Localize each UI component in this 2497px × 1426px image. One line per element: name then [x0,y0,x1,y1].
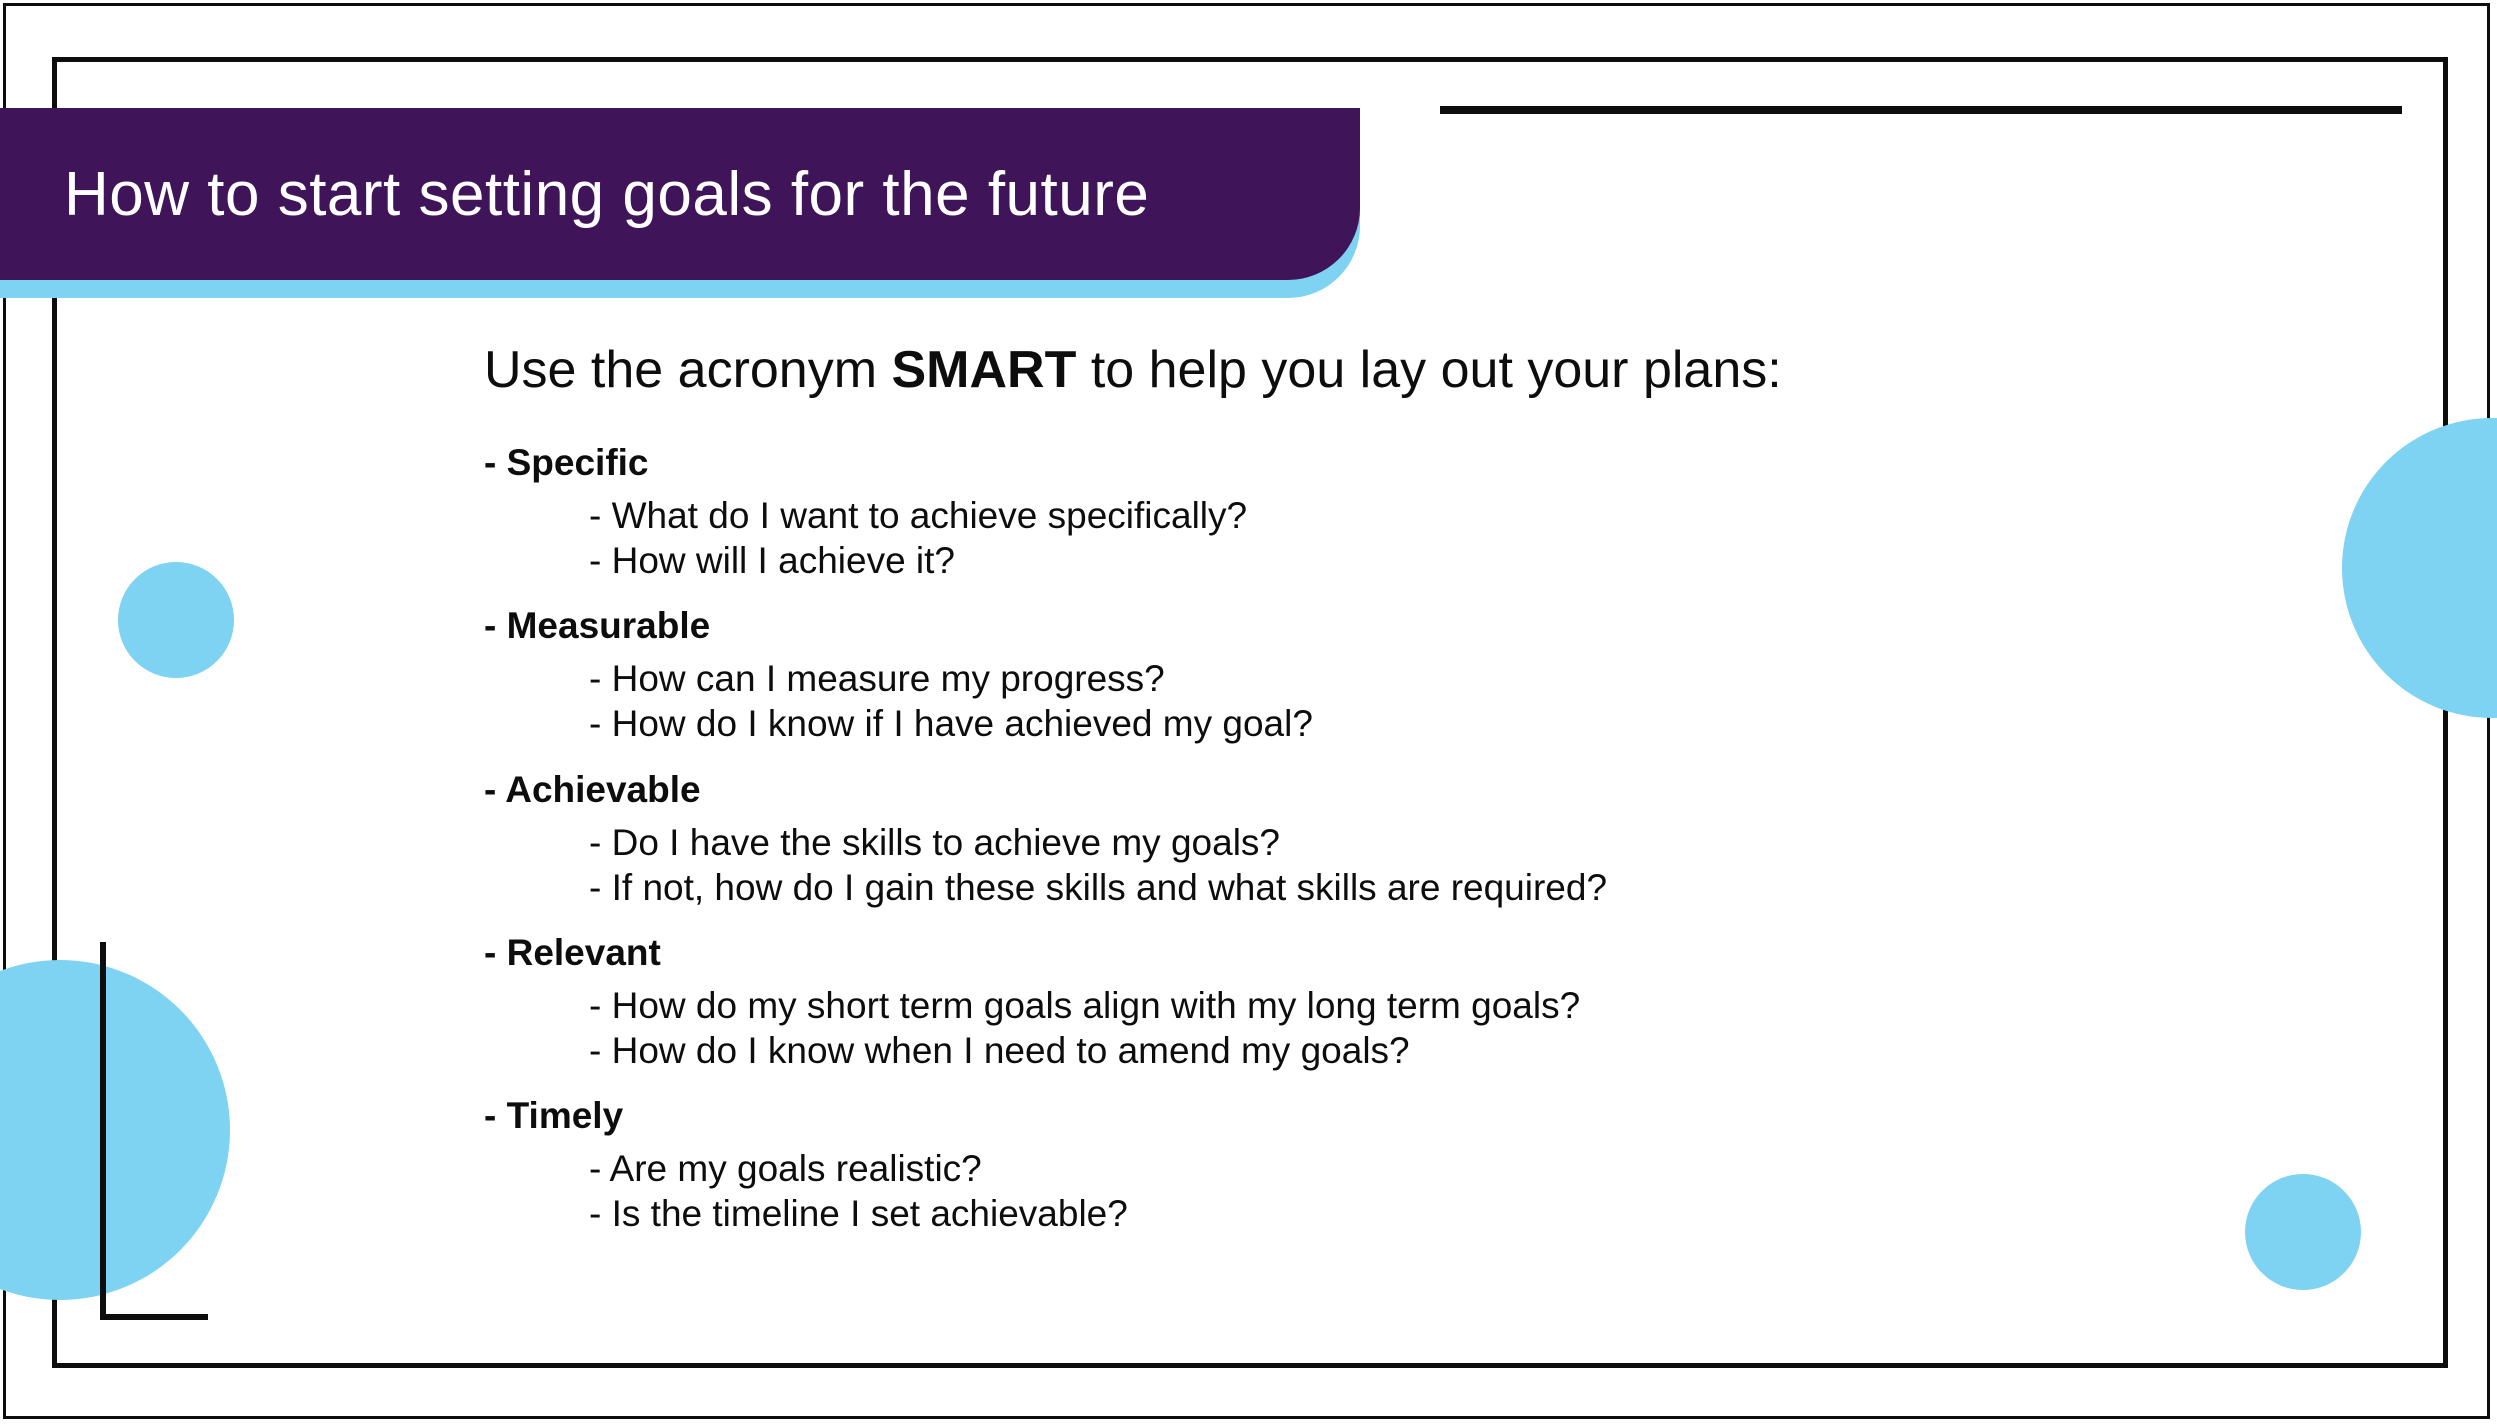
smart-question: - Do I have the skills to achieve my goa… [589,820,2364,865]
slide-canvas: How to start setting goals for the futur… [0,0,2497,1426]
decorative-corner-bracket [100,942,208,1320]
intro-text-after: to help you lay out your plans: [1076,341,1781,399]
intro-text-before: Use the acronym [484,341,892,399]
smart-term-label: - Relevant [484,932,2364,974]
smart-group-relevant: - Relevant - How do my short term goals … [484,932,2364,1073]
smart-term-label: - Achievable [484,769,2364,811]
intro-line: Use the acronym SMART to help you lay ou… [484,340,2364,400]
intro-acronym: SMART [892,341,1077,399]
smart-question: - What do I want to achieve specifically… [589,493,2364,538]
decorative-circle-left-small [118,562,234,678]
decorative-circle-right-large [2342,418,2497,718]
smart-question: - How will I achieve it? [589,538,2364,583]
smart-question: - How do my short term goals align with … [589,983,2364,1028]
smart-question: - Are my goals realistic? [589,1146,2364,1191]
smart-term-label: - Specific [484,442,2364,484]
smart-group-timely: - Timely - Are my goals realistic? - Is … [484,1095,2364,1236]
slide-body: Use the acronym SMART to help you lay ou… [484,340,2364,1258]
smart-term-label: - Measurable [484,605,2364,647]
decorative-top-rule [1440,106,2402,114]
title-banner-bar: How to start setting goals for the futur… [0,108,1360,280]
smart-question: - If not, how do I gain these skills and… [589,865,2364,910]
smart-question: - How do I know when I need to amend my … [589,1028,2364,1073]
title-banner: How to start setting goals for the futur… [0,108,1380,298]
smart-question: - How do I know if I have achieved my go… [589,701,2364,746]
smart-question: - How can I measure my progress? [589,656,2364,701]
smart-group-specific: - Specific - What do I want to achieve s… [484,442,2364,583]
smart-term-label: - Timely [484,1095,2364,1137]
smart-group-measurable: - Measurable - How can I measure my prog… [484,605,2364,746]
slide-title: How to start setting goals for the futur… [0,159,1149,230]
smart-question: - Is the timeline I set achievable? [589,1191,2364,1236]
smart-group-achievable: - Achievable - Do I have the skills to a… [484,769,2364,910]
